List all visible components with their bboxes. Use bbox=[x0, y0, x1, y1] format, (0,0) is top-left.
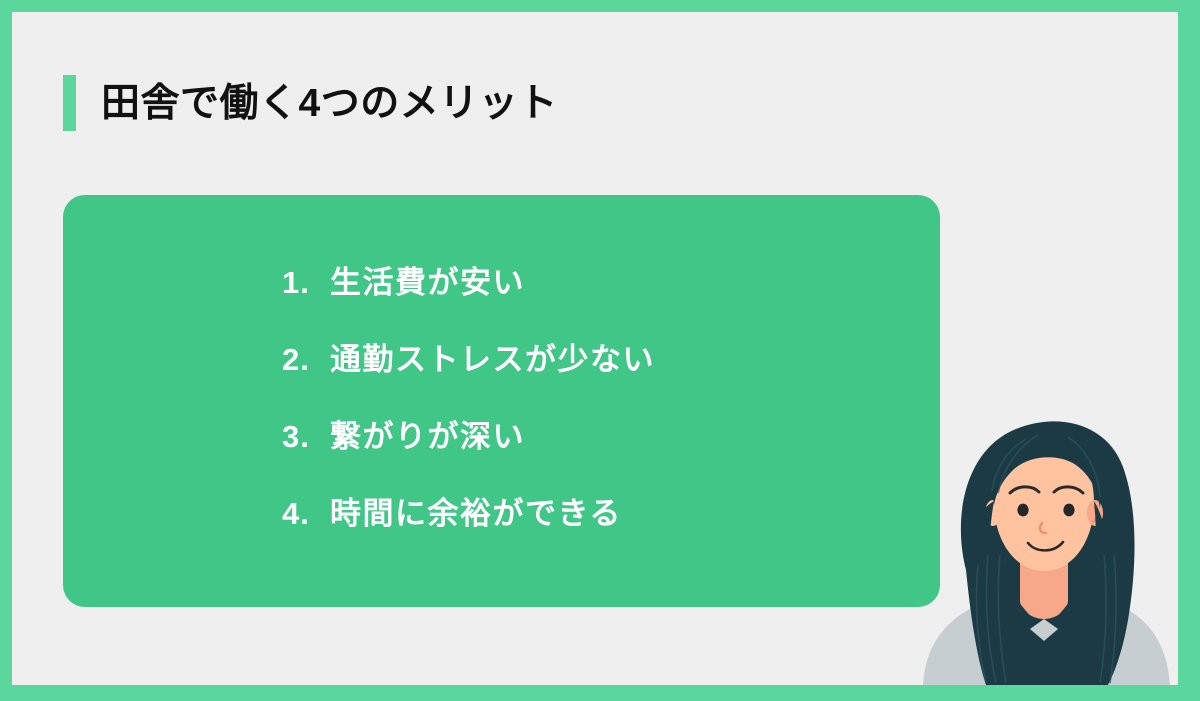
benefits-card: 1. 生活費が安い 2. 通勤ストレスが少ない 3. 繋がりが深い 4. 時間に… bbox=[63, 195, 940, 607]
title-text: 田舎で働く4つのメリット bbox=[101, 84, 558, 123]
slide-frame: 田舎で働く4つのメリット 1. 生活費が安い 2. 通勤ストレスが少ない 3. … bbox=[0, 0, 1200, 701]
list-item-number: 3. bbox=[282, 419, 330, 455]
page-title: 田舎で働く4つのメリット bbox=[63, 75, 558, 131]
eye-left bbox=[1017, 504, 1028, 517]
list-item-label: 繋がりが深い bbox=[330, 411, 525, 456]
title-accent-bar bbox=[63, 75, 76, 131]
list-item-number: 4. bbox=[282, 496, 330, 532]
list-item-number: 1. bbox=[282, 265, 330, 301]
list-item-label: 時間に余裕ができる bbox=[330, 488, 622, 533]
shirt-button bbox=[1041, 670, 1048, 677]
list-item-label: 生活費が安い bbox=[330, 257, 525, 302]
list-item-label: 通勤ストレスが少ない bbox=[330, 334, 655, 379]
list-item-number: 2. bbox=[282, 342, 330, 378]
eye-right bbox=[1063, 504, 1074, 517]
list-item: 2. 通勤ストレスが少ない bbox=[282, 334, 655, 379]
shirt-button bbox=[1041, 642, 1048, 649]
woman-illustration bbox=[908, 405, 1178, 685]
slide-canvas: 田舎で働く4つのメリット 1. 生活費が安い 2. 通勤ストレスが少ない 3. … bbox=[12, 12, 1178, 685]
list-item: 1. 生活費が安い bbox=[282, 257, 655, 302]
benefits-list: 1. 生活費が安い 2. 通勤ストレスが少ない 3. 繋がりが深い 4. 時間に… bbox=[282, 257, 655, 533]
shirt-button bbox=[1041, 656, 1048, 663]
list-item: 3. 繋がりが深い bbox=[282, 411, 655, 456]
list-item: 4. 時間に余裕ができる bbox=[282, 488, 655, 533]
